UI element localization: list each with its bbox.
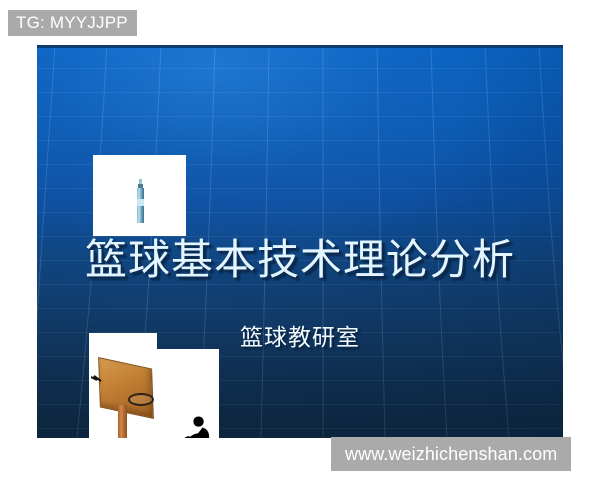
water-bottle-icon <box>137 179 144 223</box>
hoop-support-pole <box>118 405 127 438</box>
watermark-top-left: TG: MYYJJPP <box>8 10 137 36</box>
bottle-label <box>137 199 144 206</box>
slide-subtitle: 篮球教研室 <box>37 318 563 352</box>
watermark-bottom-right: www.weizhichenshan.com <box>331 437 571 471</box>
page-canvas: 篮球基本技术理论分析 篮球教研室 TG: MYYJJPP www.weizhic… <box>0 0 600 480</box>
basketball-rim <box>128 393 154 406</box>
bottle-photo <box>93 155 186 236</box>
presentation-slide: 篮球基本技术理论分析 篮球教研室 <box>37 45 563 438</box>
backboard-bracket-icon <box>91 375 104 387</box>
basketball-player-silhouette-icon <box>181 415 211 438</box>
slide-title: 篮球基本技术理论分析 <box>37 238 563 283</box>
slide-top-rule <box>37 45 563 48</box>
